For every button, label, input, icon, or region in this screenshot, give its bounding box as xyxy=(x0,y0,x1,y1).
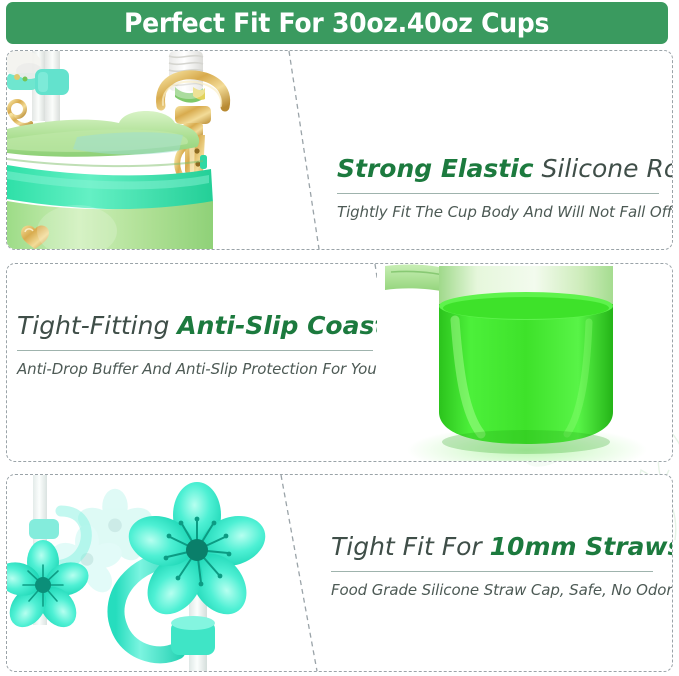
panel-2-text: Tight-Fitting Anti-Slip Coasters Anti-Dr… xyxy=(17,312,373,378)
feature-panel-1: Strong Elastic Silicone Rope Tightly Fit… xyxy=(6,50,673,250)
infographic-root: Perfect Fit For 30oz.40oz Cups xyxy=(0,0,679,676)
feature-panel-3: Tight Fit For 10mm Straws Food Grade Sil… xyxy=(6,474,673,672)
panel-1-text: Strong Elastic Silicone Rope Tightly Fit… xyxy=(337,155,659,221)
cup-bottom-with-anti-slip-coaster-photo xyxy=(377,264,673,462)
panel-1-headline-highlight: Strong Elastic xyxy=(337,154,534,183)
panel-1-rule xyxy=(337,193,659,194)
page-title: Perfect Fit For 30oz.40oz Cups xyxy=(124,10,549,37)
flower-straw-caps-photo xyxy=(7,475,307,672)
panel-3-rule xyxy=(331,571,653,572)
feature-panel-2: Tight-Fitting Anti-Slip Coasters Anti-Dr… xyxy=(6,263,673,462)
cup-lid-with-carabiner-and-silicone-rope-photo xyxy=(7,51,307,250)
panel-2-rule xyxy=(17,350,373,351)
panel-3-subline: Food Grade Silicone Straw Cap, Safe, No … xyxy=(331,581,653,599)
panel-3-text: Tight Fit For 10mm Straws Food Grade Sil… xyxy=(331,533,653,599)
panel-1-headline: Strong Elastic Silicone Rope xyxy=(337,155,659,184)
panel-3-headline-highlight: 10mm Straws xyxy=(490,532,673,561)
panel-2-headline-prefix: Tight-Fitting xyxy=(17,311,177,340)
panel-3-headline-prefix: Tight Fit For xyxy=(331,532,490,561)
panel-1-headline-suffix: Silicone Rope xyxy=(534,154,673,183)
header-banner: Perfect Fit For 30oz.40oz Cups xyxy=(6,2,668,44)
panel-3-headline: Tight Fit For 10mm Straws xyxy=(331,533,653,562)
panel-2-subline: Anti-Drop Buffer And Anti-Slip Protectio… xyxy=(17,360,373,378)
panel-2-headline: Tight-Fitting Anti-Slip Coasters xyxy=(17,312,373,341)
panel-1-subline: Tightly Fit The Cup Body And Will Not Fa… xyxy=(337,203,659,221)
